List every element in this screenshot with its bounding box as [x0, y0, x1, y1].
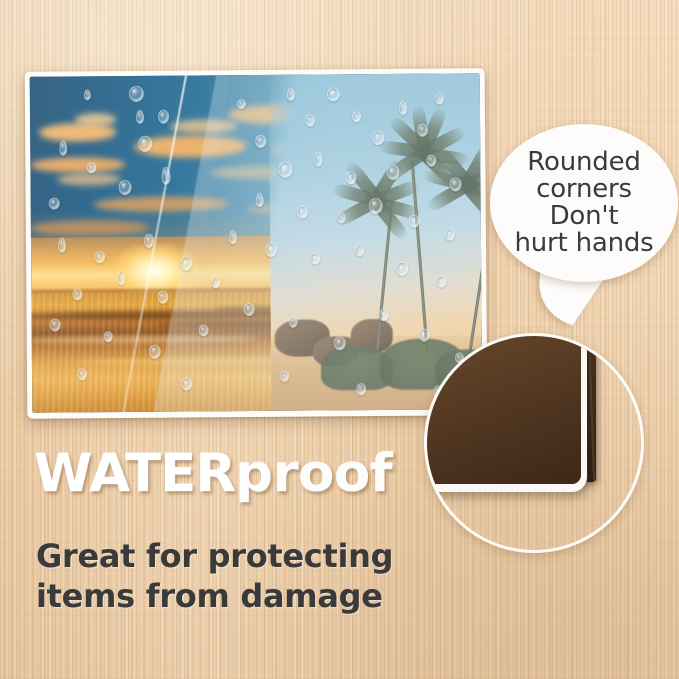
- subheadline-line-1: Great for protecting: [36, 536, 436, 576]
- magnified-poster-photo: [427, 336, 581, 484]
- headline-water: WATER: [34, 443, 235, 504]
- subheadline: Great for protecting items from damage: [36, 536, 436, 617]
- bubble-line-1: Rounded: [527, 147, 640, 177]
- magnified-poster-corner: [427, 336, 587, 492]
- poster-photo: [30, 73, 483, 413]
- bubble-line-3: Don't: [550, 201, 619, 231]
- zoom-circle-contents: [427, 336, 641, 550]
- subheadline-line-2: items from damage: [36, 576, 436, 616]
- headline: WATERproof: [34, 447, 392, 500]
- bubble-line-4: hurt hands: [514, 228, 653, 258]
- speech-bubble-text: Rounded corners Don't hurt hands: [504, 149, 663, 256]
- bubble-line-2: corners: [536, 174, 632, 204]
- zoom-detail-circle: [424, 333, 644, 553]
- headline-proof: proof: [235, 443, 392, 504]
- laminated-poster: [25, 68, 488, 419]
- product-marketing-image: Rounded corners Don't hurt hands WATERpr…: [0, 0, 679, 679]
- speech-bubble: Rounded corners Don't hurt hands: [490, 124, 678, 282]
